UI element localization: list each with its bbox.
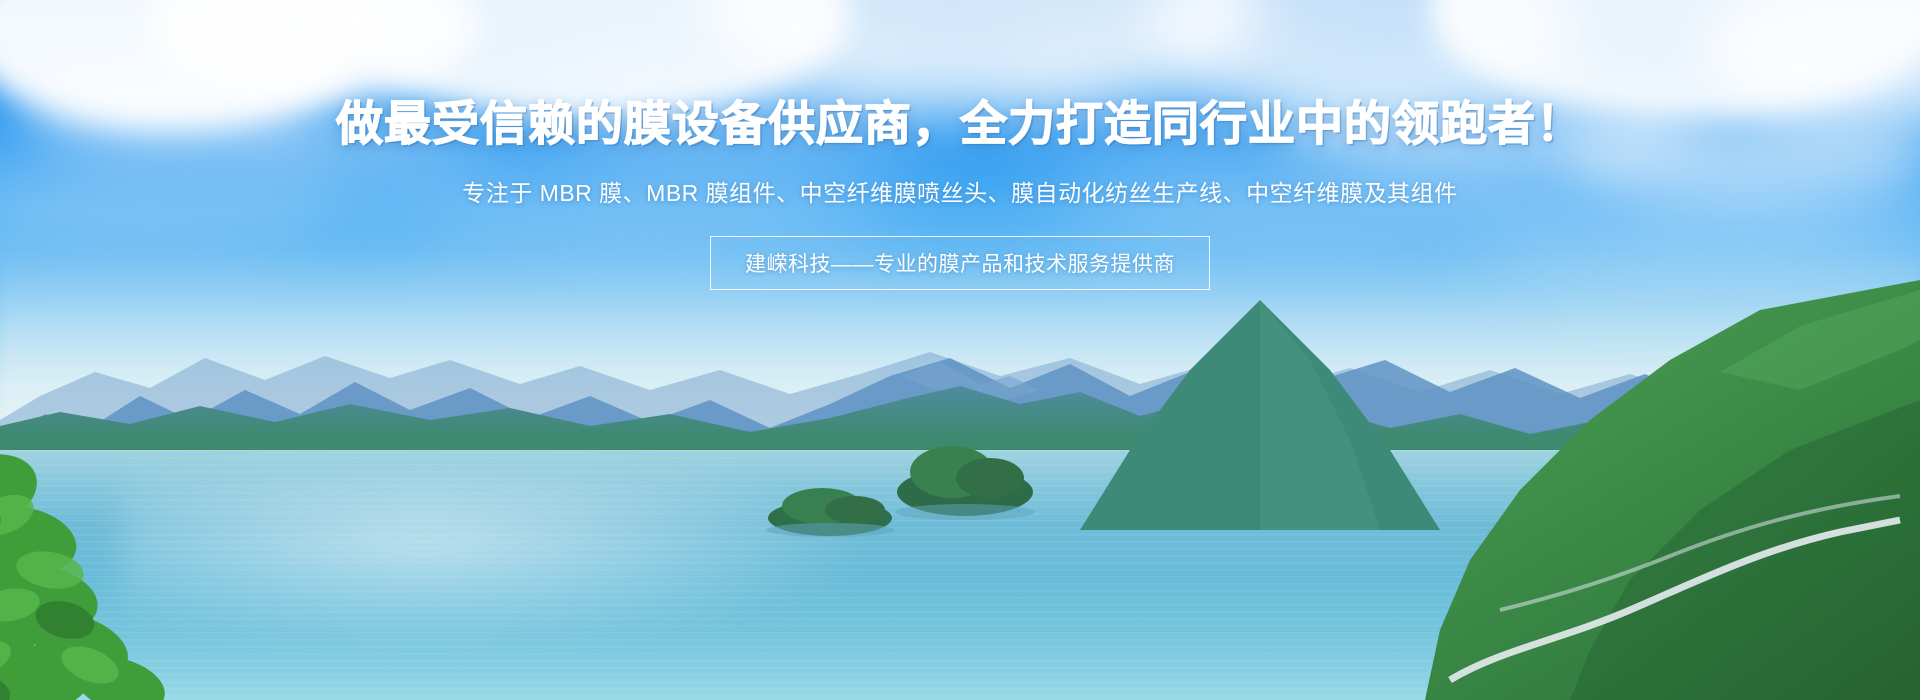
cloud-shape bbox=[380, 175, 900, 245]
cloud-shape bbox=[1560, 110, 1920, 205]
hero-banner: 做最受信赖的膜设备供应商，全力打造同行业中的领跑者！ 专注于 MBR 膜、MBR… bbox=[0, 0, 1920, 700]
cloud-shape bbox=[520, 40, 940, 150]
foreground-foliage bbox=[0, 430, 270, 700]
central-peak bbox=[1060, 300, 1480, 530]
lake-island bbox=[880, 420, 1060, 530]
cloud-shape bbox=[240, 95, 500, 165]
